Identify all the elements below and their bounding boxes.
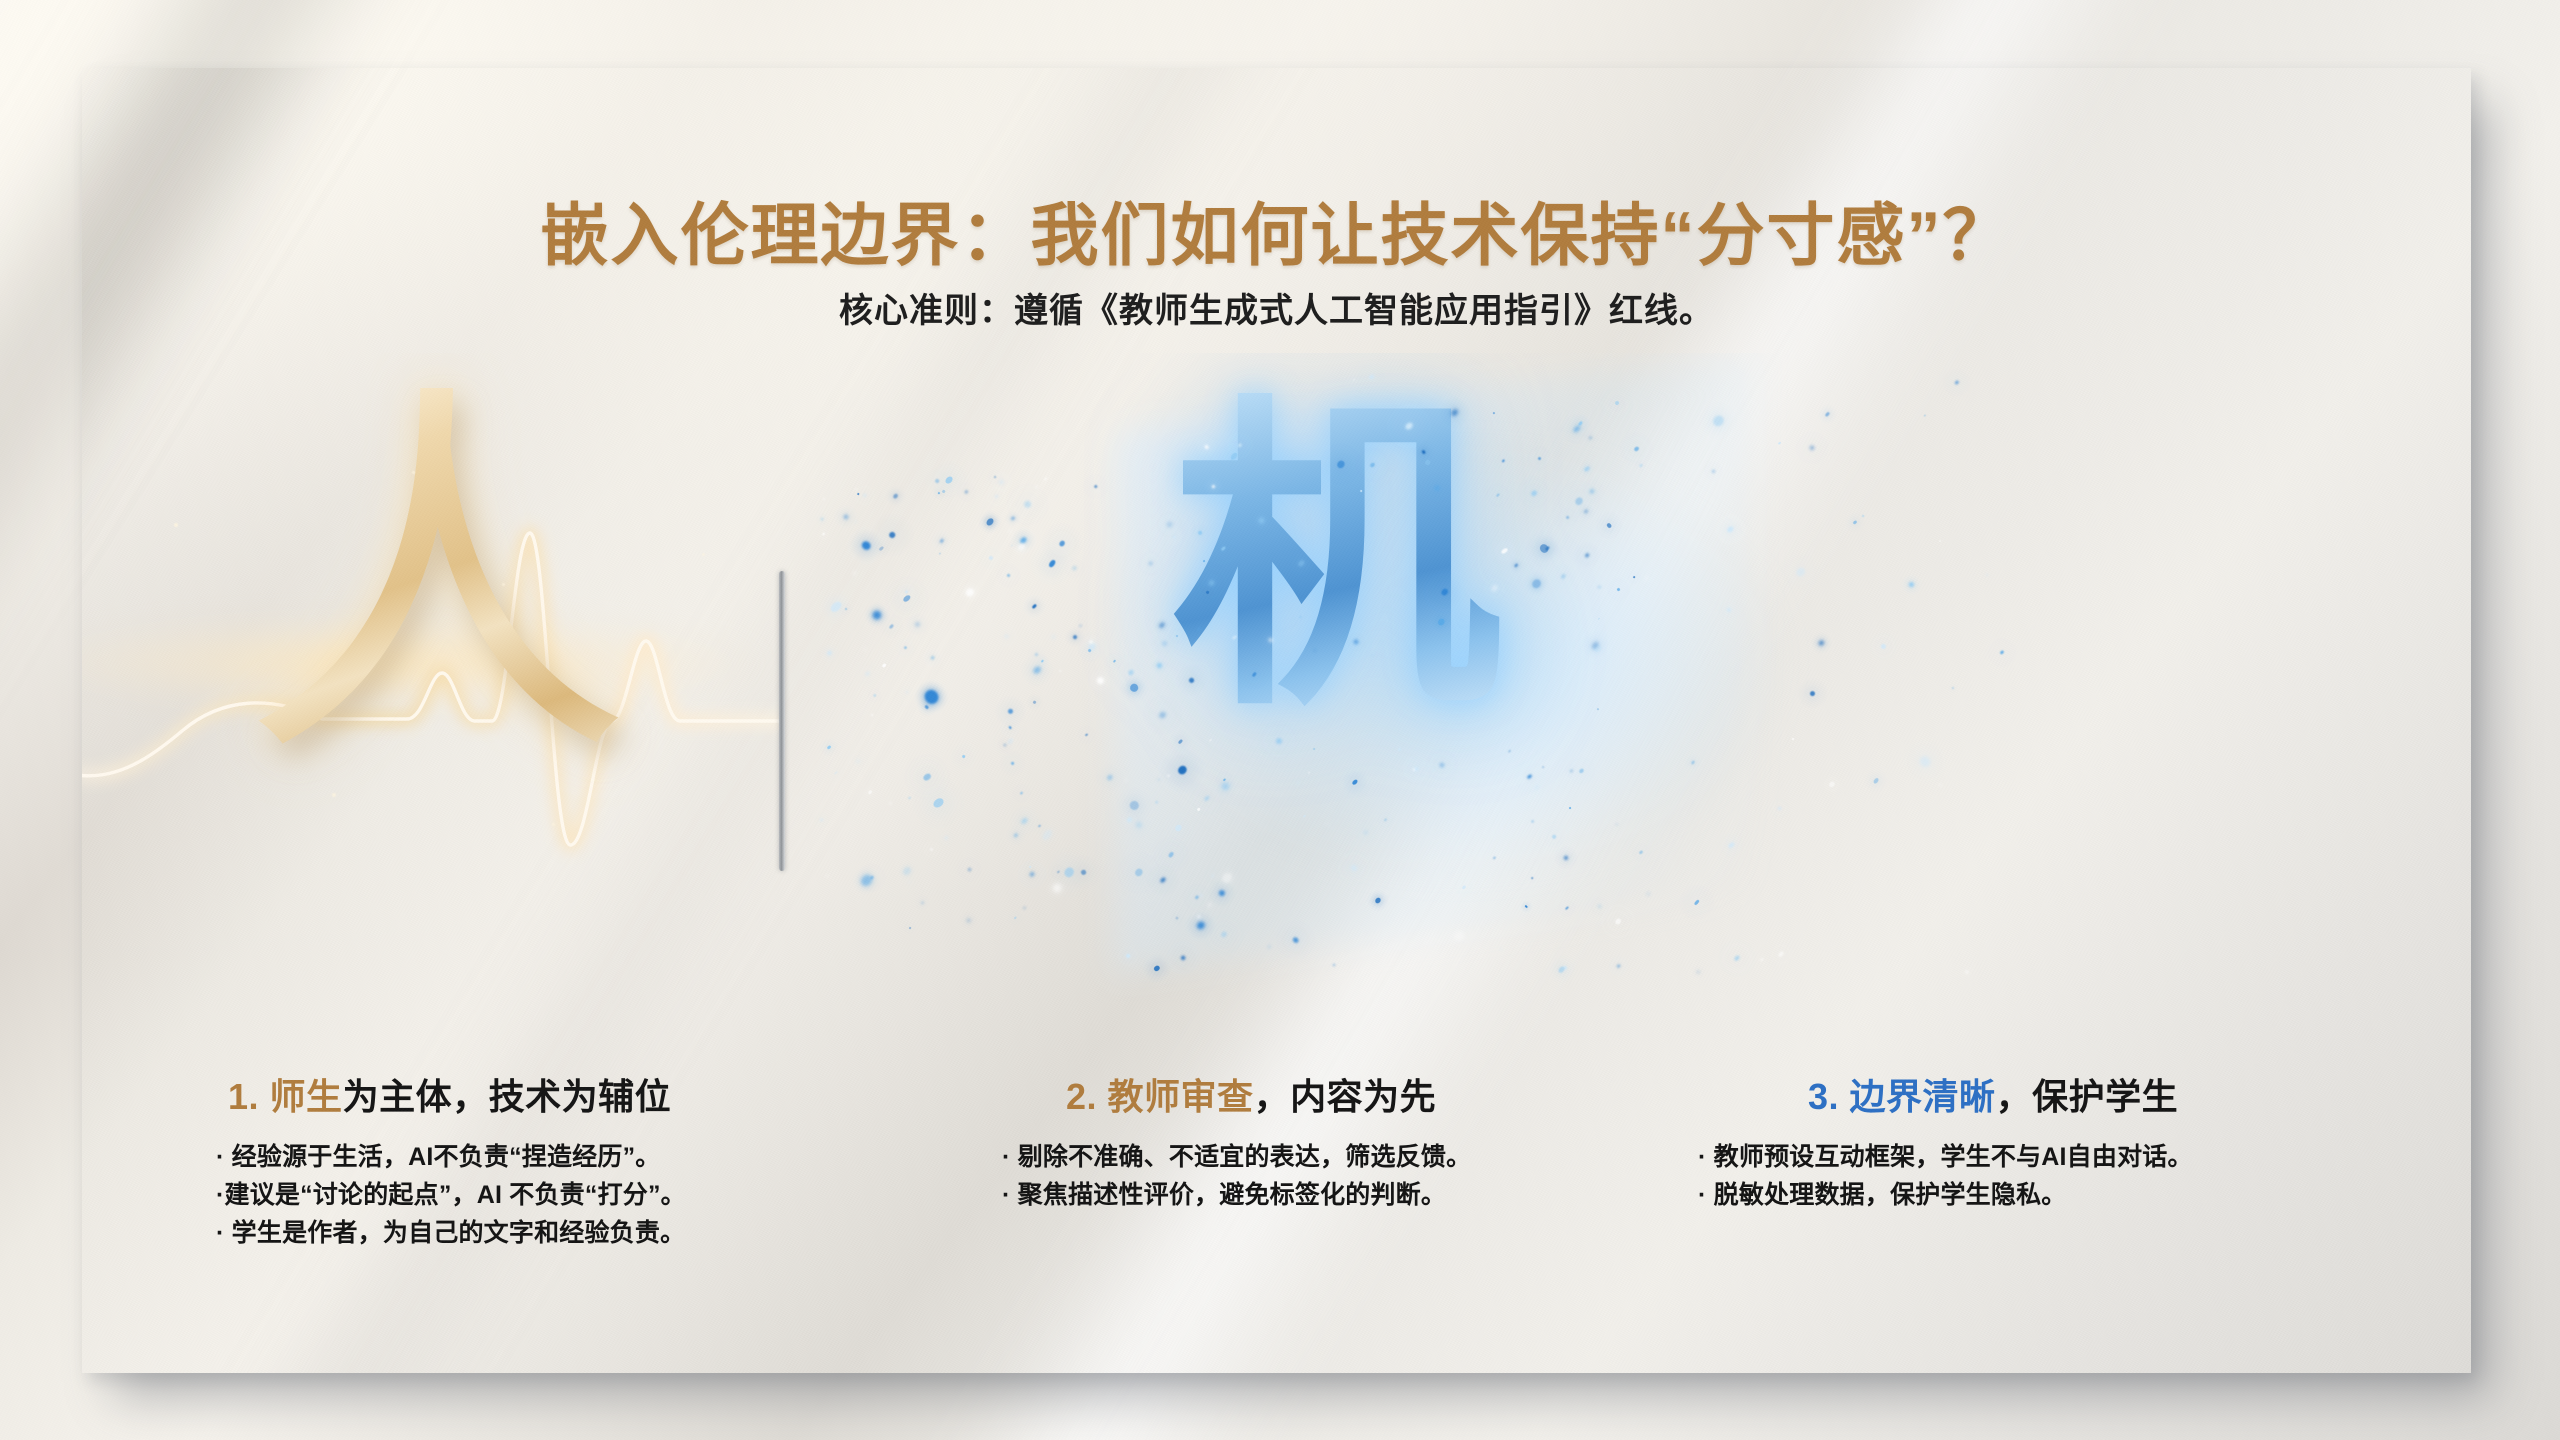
hero-artwork: 人 机 ok bbox=[82, 353, 2471, 1003]
digital-particle bbox=[882, 663, 887, 668]
principle-2-heading: 2. 教师审查，内容为先 bbox=[960, 1068, 1660, 1120]
digital-particle bbox=[864, 670, 870, 676]
gold-spark bbox=[412, 471, 415, 474]
digital-particle bbox=[905, 691, 908, 694]
principle-3-rest: ，保护学生 bbox=[1996, 1076, 2179, 1117]
digital-particle bbox=[903, 645, 908, 650]
principle-3-number: 3. bbox=[1808, 1076, 1839, 1117]
digital-particle bbox=[888, 802, 892, 806]
principle-3-heading: 3. 边界清晰，保护学生 bbox=[1672, 1068, 2462, 1120]
hero-glyph-machine: 机 bbox=[1171, 393, 1501, 723]
principle-1-accent: 师生 bbox=[270, 1076, 343, 1117]
principle-3-bullet-1: · 教师预设互动框架，学生不与AI自由对话。 bbox=[1672, 1138, 2462, 1176]
digital-particle bbox=[1095, 489, 1098, 492]
principle-1-bullet-1: · 经验源于生活，AI不负责“捏造经历”。 bbox=[210, 1138, 970, 1176]
principle-1-bullet-3: · 学生是作者，为自己的文字和经验负责。 bbox=[210, 1214, 970, 1252]
hero-glyph-human: 人 bbox=[242, 388, 632, 778]
digital-particle bbox=[860, 540, 872, 552]
digital-particle bbox=[944, 836, 948, 840]
digital-particle bbox=[938, 552, 940, 554]
digital-particle bbox=[1938, 783, 1941, 786]
hero-human-side: 人 bbox=[82, 353, 782, 1003]
digital-particle bbox=[1332, 963, 1335, 966]
digital-particle bbox=[871, 714, 874, 717]
digital-particle bbox=[843, 514, 848, 519]
digital-particle bbox=[923, 688, 941, 707]
principle-1-number: 1. bbox=[228, 1076, 259, 1117]
principle-column-3: 3. 边界清晰，保护学生 · 教师预设互动框架，学生不与AI自由对话。 · 脱敏… bbox=[1672, 1068, 2462, 1214]
digital-particle bbox=[888, 624, 894, 630]
digital-particle bbox=[868, 790, 872, 794]
digital-particle bbox=[934, 478, 939, 483]
digital-particle bbox=[1880, 643, 1887, 650]
principles-columns: 1. 师生为主体，技术为辅位 · 经验源于生活，AI不负责“捏造经历”。 ·建议… bbox=[82, 1068, 2471, 1368]
principle-2-bullet-2: · 聚焦描述性评价，避免标签化的判断。 bbox=[960, 1176, 1660, 1214]
digital-particle bbox=[870, 875, 875, 880]
digital-particle bbox=[1873, 778, 1879, 785]
gold-spark bbox=[552, 823, 555, 826]
digital-particle bbox=[1964, 969, 1970, 975]
digital-particle bbox=[888, 531, 896, 539]
digital-particle bbox=[1205, 590, 1209, 594]
digital-particle bbox=[821, 518, 824, 521]
principle-1-rest: 为主体，技术为辅位 bbox=[343, 1076, 672, 1117]
digital-particle bbox=[929, 848, 933, 852]
digital-particle bbox=[922, 772, 932, 781]
digital-particle bbox=[924, 704, 929, 709]
digital-particle bbox=[845, 607, 848, 610]
digital-particle bbox=[863, 493, 867, 497]
digital-particle bbox=[871, 609, 883, 621]
digital-particle bbox=[855, 759, 860, 764]
digital-particle bbox=[855, 521, 857, 524]
gold-spark bbox=[174, 523, 178, 527]
digital-particle bbox=[820, 818, 823, 821]
digital-particle bbox=[1917, 754, 1932, 769]
digital-particle bbox=[914, 621, 921, 628]
digital-particle bbox=[944, 475, 954, 485]
digital-particle bbox=[872, 693, 876, 697]
principle-2-rest: ，内容为先 bbox=[1254, 1076, 1437, 1117]
digital-particle bbox=[908, 880, 910, 882]
slide-panel: 嵌入伦理边界：我们如何让技术保持“分寸感”？ 核心准则：遵循《教师生成式人工智能… bbox=[82, 68, 2471, 1373]
principle-2-bullet-1: · 剔除不准确、不适宜的表达，筛选反馈。 bbox=[960, 1138, 1660, 1176]
digital-particle bbox=[940, 539, 944, 543]
digital-particle bbox=[826, 649, 833, 656]
digital-particle bbox=[1954, 380, 1959, 385]
digital-particle bbox=[905, 590, 908, 593]
digital-particle bbox=[829, 600, 843, 613]
digital-particle bbox=[902, 866, 912, 876]
principle-3-accent: 边界清晰 bbox=[1850, 1076, 1996, 1117]
digital-particle bbox=[1985, 573, 1988, 576]
digital-particle bbox=[908, 797, 911, 800]
digital-particle bbox=[938, 491, 941, 494]
digital-particle bbox=[826, 874, 829, 877]
gold-spark bbox=[332, 793, 336, 797]
digital-particle bbox=[863, 647, 866, 650]
digital-particle bbox=[853, 572, 857, 576]
digital-particle bbox=[2000, 650, 2005, 655]
digital-particle bbox=[822, 498, 825, 501]
digital-particle bbox=[892, 493, 899, 500]
principle-column-2: 2. 教师审查，内容为先 · 剔除不准确、不适宜的表达，筛选反馈。 · 聚焦描述… bbox=[960, 1068, 1660, 1214]
digital-particle bbox=[1907, 581, 1914, 588]
digital-particle bbox=[855, 487, 858, 490]
page-title: 嵌入伦理边界：我们如何让技术保持“分寸感”？ bbox=[82, 180, 2471, 279]
principle-2-number: 2. bbox=[1066, 1076, 1097, 1117]
principle-column-1: 1. 师生为主体，技术为辅位 · 经验源于生活，AI不负责“捏造经历”。 ·建议… bbox=[210, 1068, 970, 1252]
digital-particle bbox=[909, 927, 912, 930]
digital-particle bbox=[879, 545, 885, 551]
digital-particle bbox=[932, 797, 945, 810]
digital-particle bbox=[1952, 687, 1955, 690]
digital-particle bbox=[1924, 415, 1926, 417]
digital-particle bbox=[834, 771, 838, 775]
principle-3-bullet-2: · 脱敏处理数据，保护学生隐私。 bbox=[1672, 1176, 2462, 1214]
page-subtitle: 核心准则：遵循《教师生成式人工智能应用指引》红线。 bbox=[82, 283, 2471, 332]
digital-particle bbox=[826, 745, 831, 749]
digital-particle bbox=[941, 489, 945, 493]
digital-particle bbox=[1861, 514, 1864, 517]
digital-particle bbox=[921, 901, 924, 904]
gold-spark bbox=[702, 553, 705, 556]
digital-particle bbox=[902, 594, 912, 603]
principle-2-accent: 教师审查 bbox=[1108, 1076, 1254, 1117]
hero-machine-side: 机 ok bbox=[785, 353, 2471, 1003]
digital-particle bbox=[931, 656, 934, 659]
principle-1-bullet-2: ·建议是“讨论的起点”，AI 不负责“打分”。 bbox=[210, 1176, 970, 1214]
digital-particle bbox=[1939, 540, 1942, 543]
digital-particle bbox=[1852, 520, 1857, 525]
principle-1-heading: 1. 师生为主体，技术为辅位 bbox=[210, 1068, 970, 1120]
digital-particle bbox=[822, 532, 825, 536]
digital-particle bbox=[857, 492, 860, 495]
gold-spark bbox=[502, 583, 505, 586]
